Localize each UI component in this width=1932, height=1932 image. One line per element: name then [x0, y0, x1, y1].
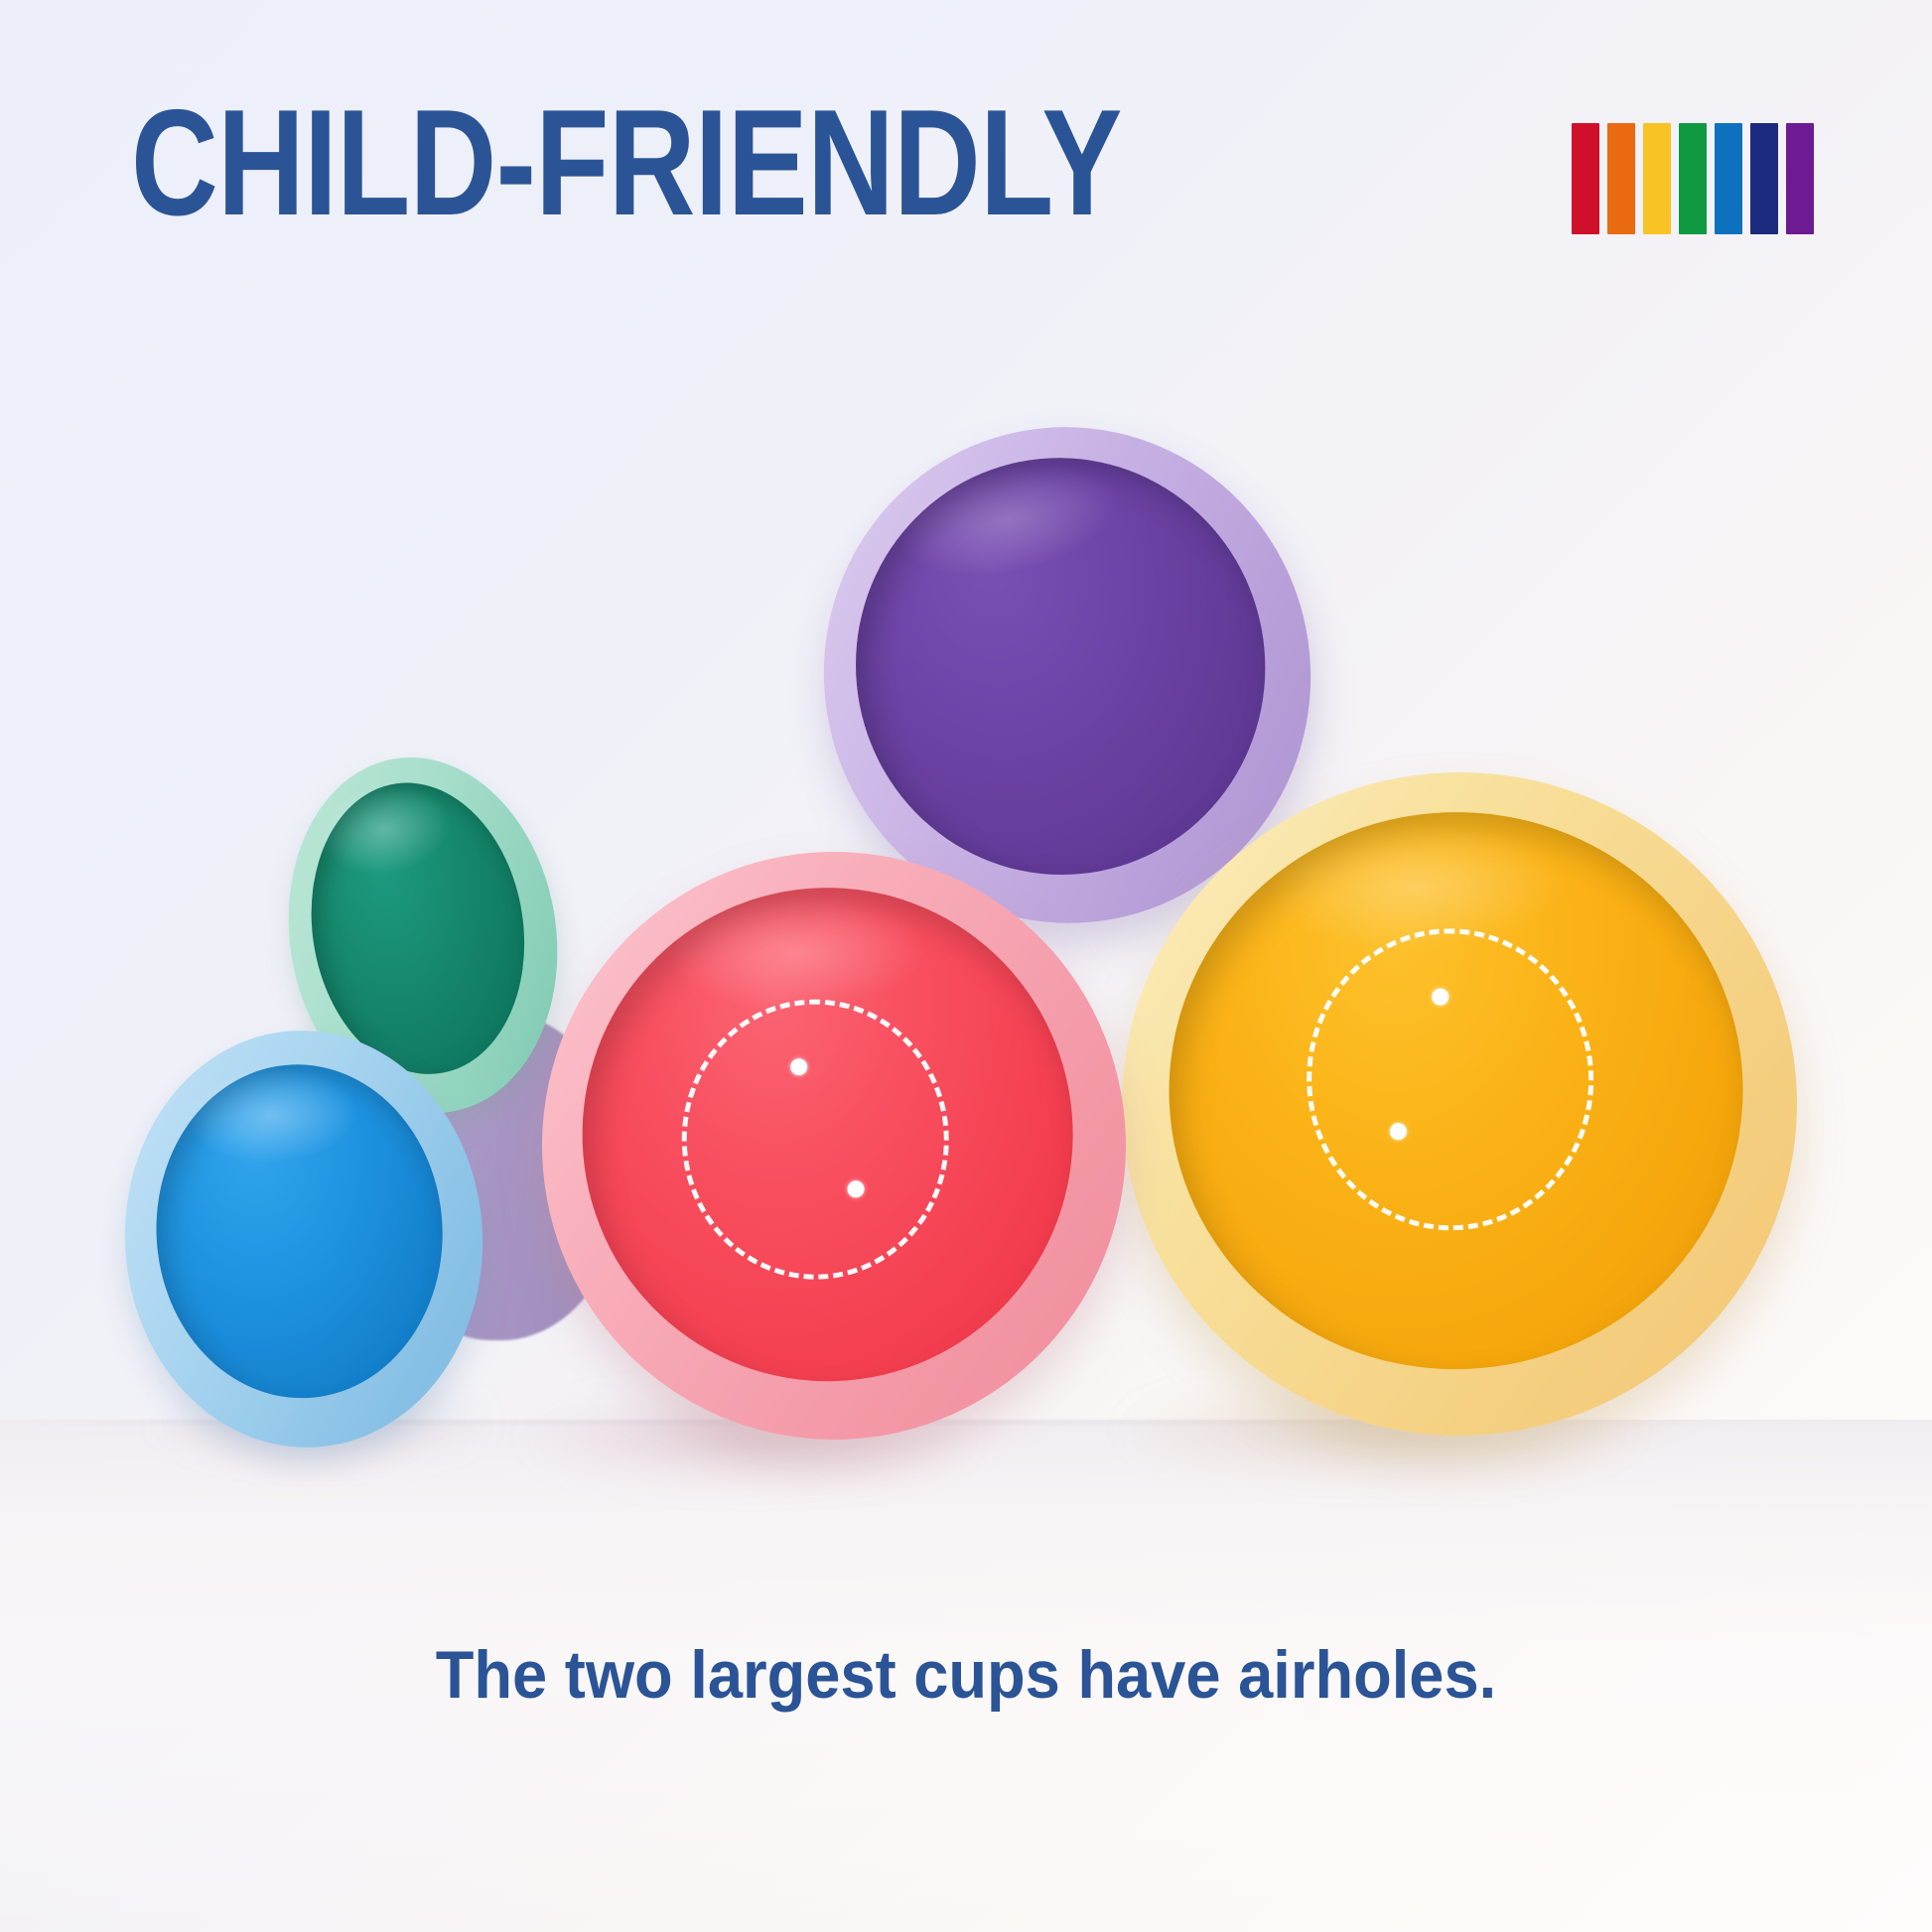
logo-bar-red [1572, 123, 1599, 234]
cup-pink-airhole-2 [847, 1179, 865, 1197]
cup-yellow-airhole-2 [1389, 1123, 1407, 1141]
logo-bar-orange [1607, 123, 1635, 234]
page-title: CHILD-FRIENDLY [131, 87, 1122, 238]
cup-pink[interactable] [532, 842, 1136, 1449]
logo-bar-navy [1750, 123, 1778, 234]
logo-bar-yellow [1643, 123, 1671, 234]
logo-bar-green [1679, 123, 1707, 234]
logo-bar-purple [1786, 123, 1814, 234]
rainbow-bars-logo [1572, 123, 1814, 234]
caption-text: The two largest cups have airholes. [68, 1636, 1864, 1714]
product-feature-card: CHILD-FRIENDLY [0, 0, 1932, 1932]
logo-bar-blue [1715, 123, 1742, 234]
cup-blue[interactable] [114, 1022, 492, 1456]
cup-yellow[interactable] [1111, 760, 1809, 1447]
